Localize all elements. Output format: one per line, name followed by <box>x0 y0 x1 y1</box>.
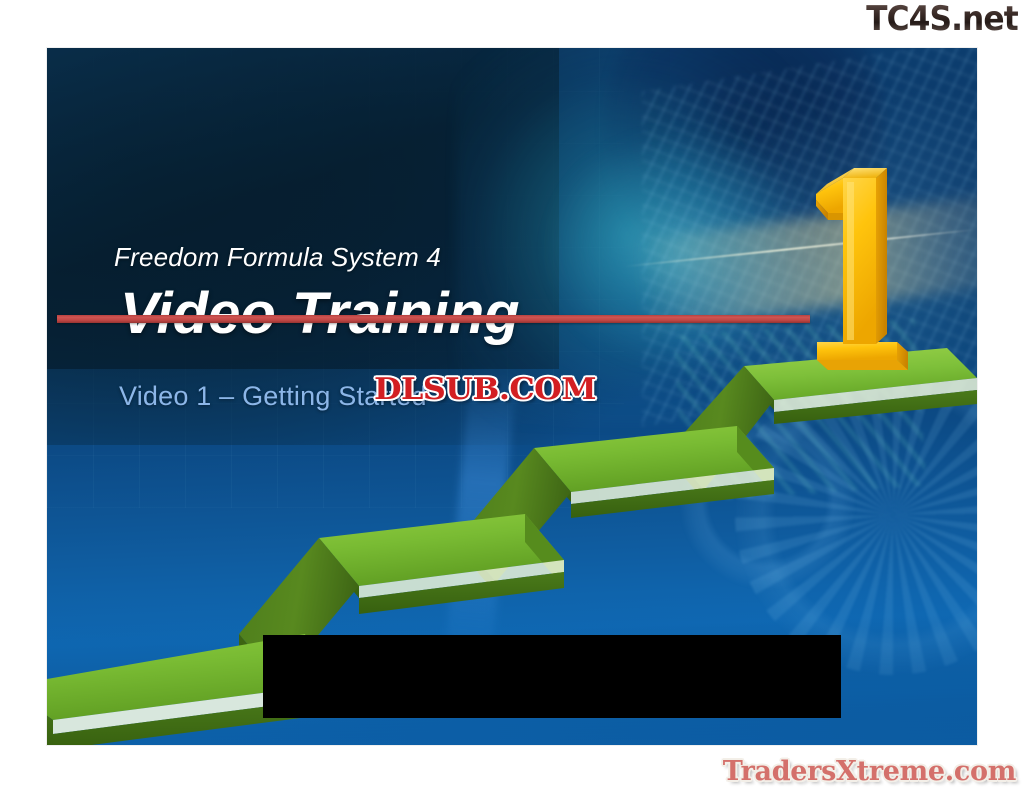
title-divider-rule <box>57 315 810 323</box>
slide-eyebrow: Freedom Formula System 4 <box>114 242 441 273</box>
slide-title: Video Training <box>120 280 520 347</box>
redaction-bar <box>263 635 841 718</box>
dlsub-watermark: DLSUB.COM <box>374 375 596 405</box>
tc4s-logo: TC4S.net <box>866 2 1018 36</box>
page-canvas: TC4S.net <box>0 0 1024 791</box>
tradersxtreme-watermark: TradersXtreme.com <box>723 757 1016 787</box>
background-gear-small <box>679 410 856 591</box>
presentation-slide: Freedom Formula System 4 Video Training … <box>47 48 977 745</box>
